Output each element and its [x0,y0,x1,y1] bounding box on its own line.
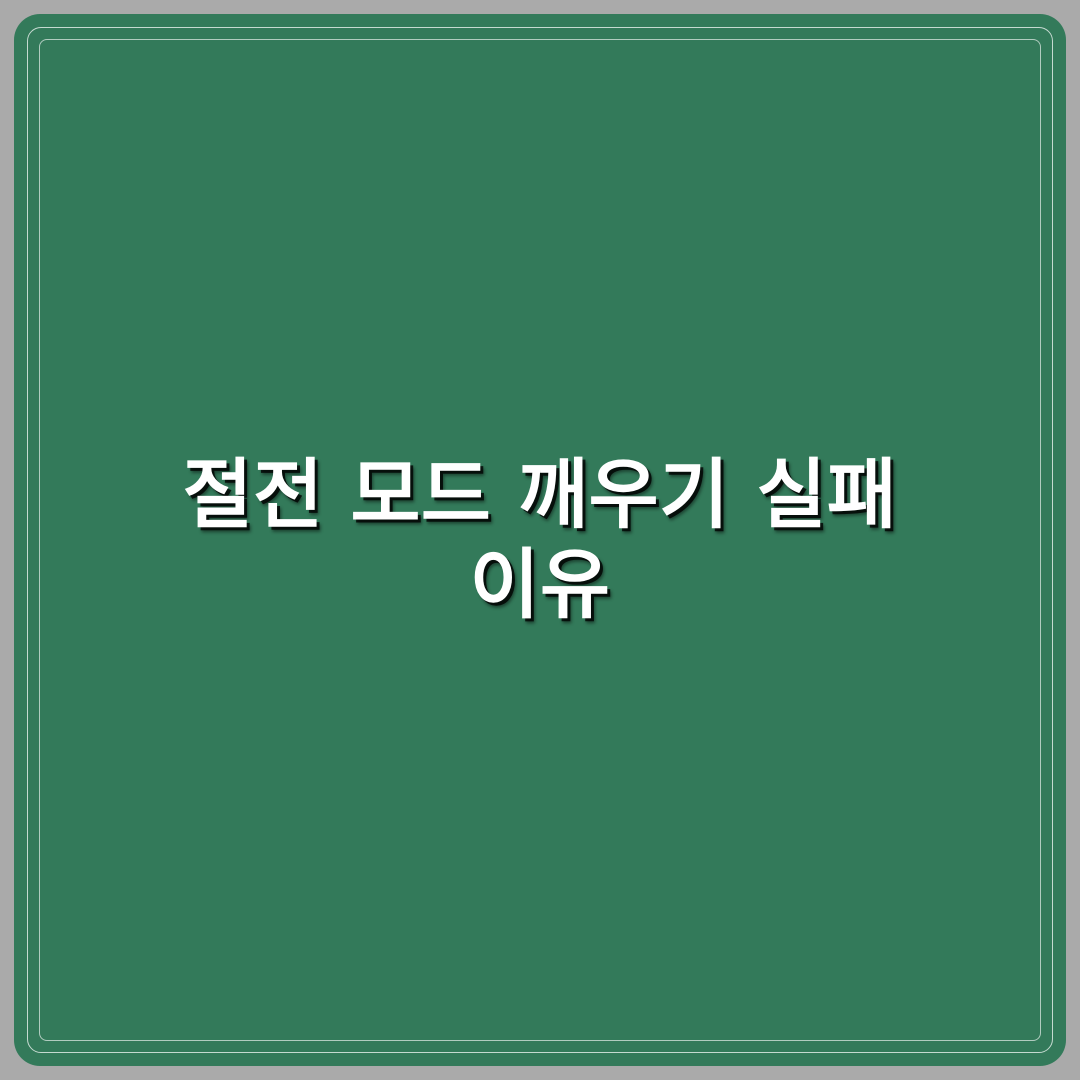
title-block: 절전 모드 깨우기 실패 이유 [100,450,980,629]
page-title: 절전 모드 깨우기 실패 이유 [100,450,980,629]
poster-card: 절전 모드 깨우기 실패 이유 [14,14,1066,1066]
poster-canvas: 절전 모드 깨우기 실패 이유 [0,0,1080,1080]
